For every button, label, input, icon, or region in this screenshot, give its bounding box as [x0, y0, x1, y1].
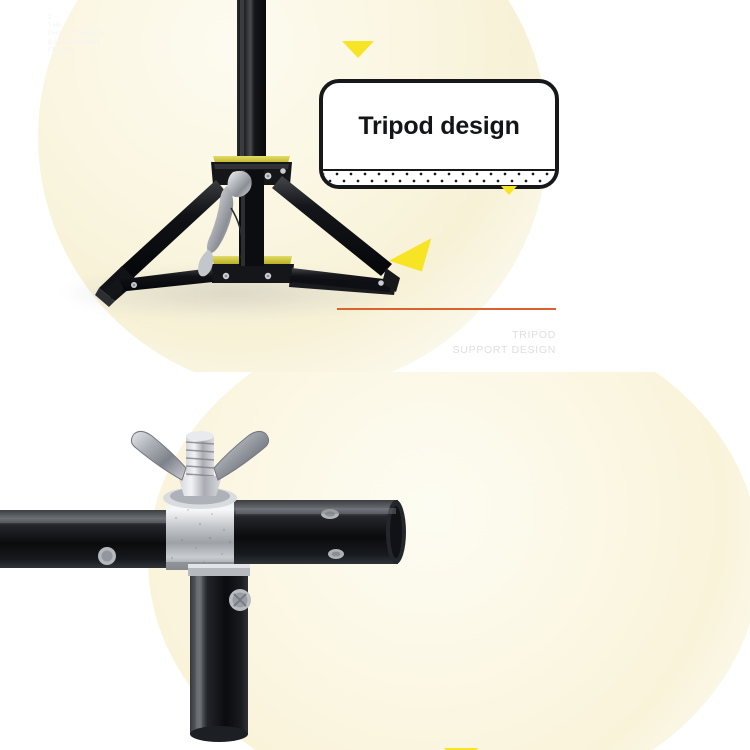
- dotted-strip-decoration: [323, 169, 555, 185]
- callout-tripod-label: Tripod design: [323, 83, 555, 169]
- callout-tripod-design: Tripod design: [319, 79, 559, 189]
- section-crossbar-design: 1 THE PHOTOGRAPHIC BACKGROUND FRAME: [0, 372, 750, 750]
- caption-tripod-support-design: TRIPOD SUPPORT DESIGN: [356, 328, 556, 358]
- crossbar-product-photo: [0, 372, 750, 750]
- triangle-marker-above-callout-icon: [342, 41, 374, 58]
- orange-divider-line: [337, 308, 556, 310]
- section-tripod-design: 1 THE PHOTOGRAPHIC BACKGROUND FRAME: [0, 0, 750, 372]
- triangle-marker-below-callout-icon: [501, 186, 517, 195]
- product-feature-poster: 1 THE PHOTOGRAPHIC BACKGROUND FRAME: [0, 0, 750, 750]
